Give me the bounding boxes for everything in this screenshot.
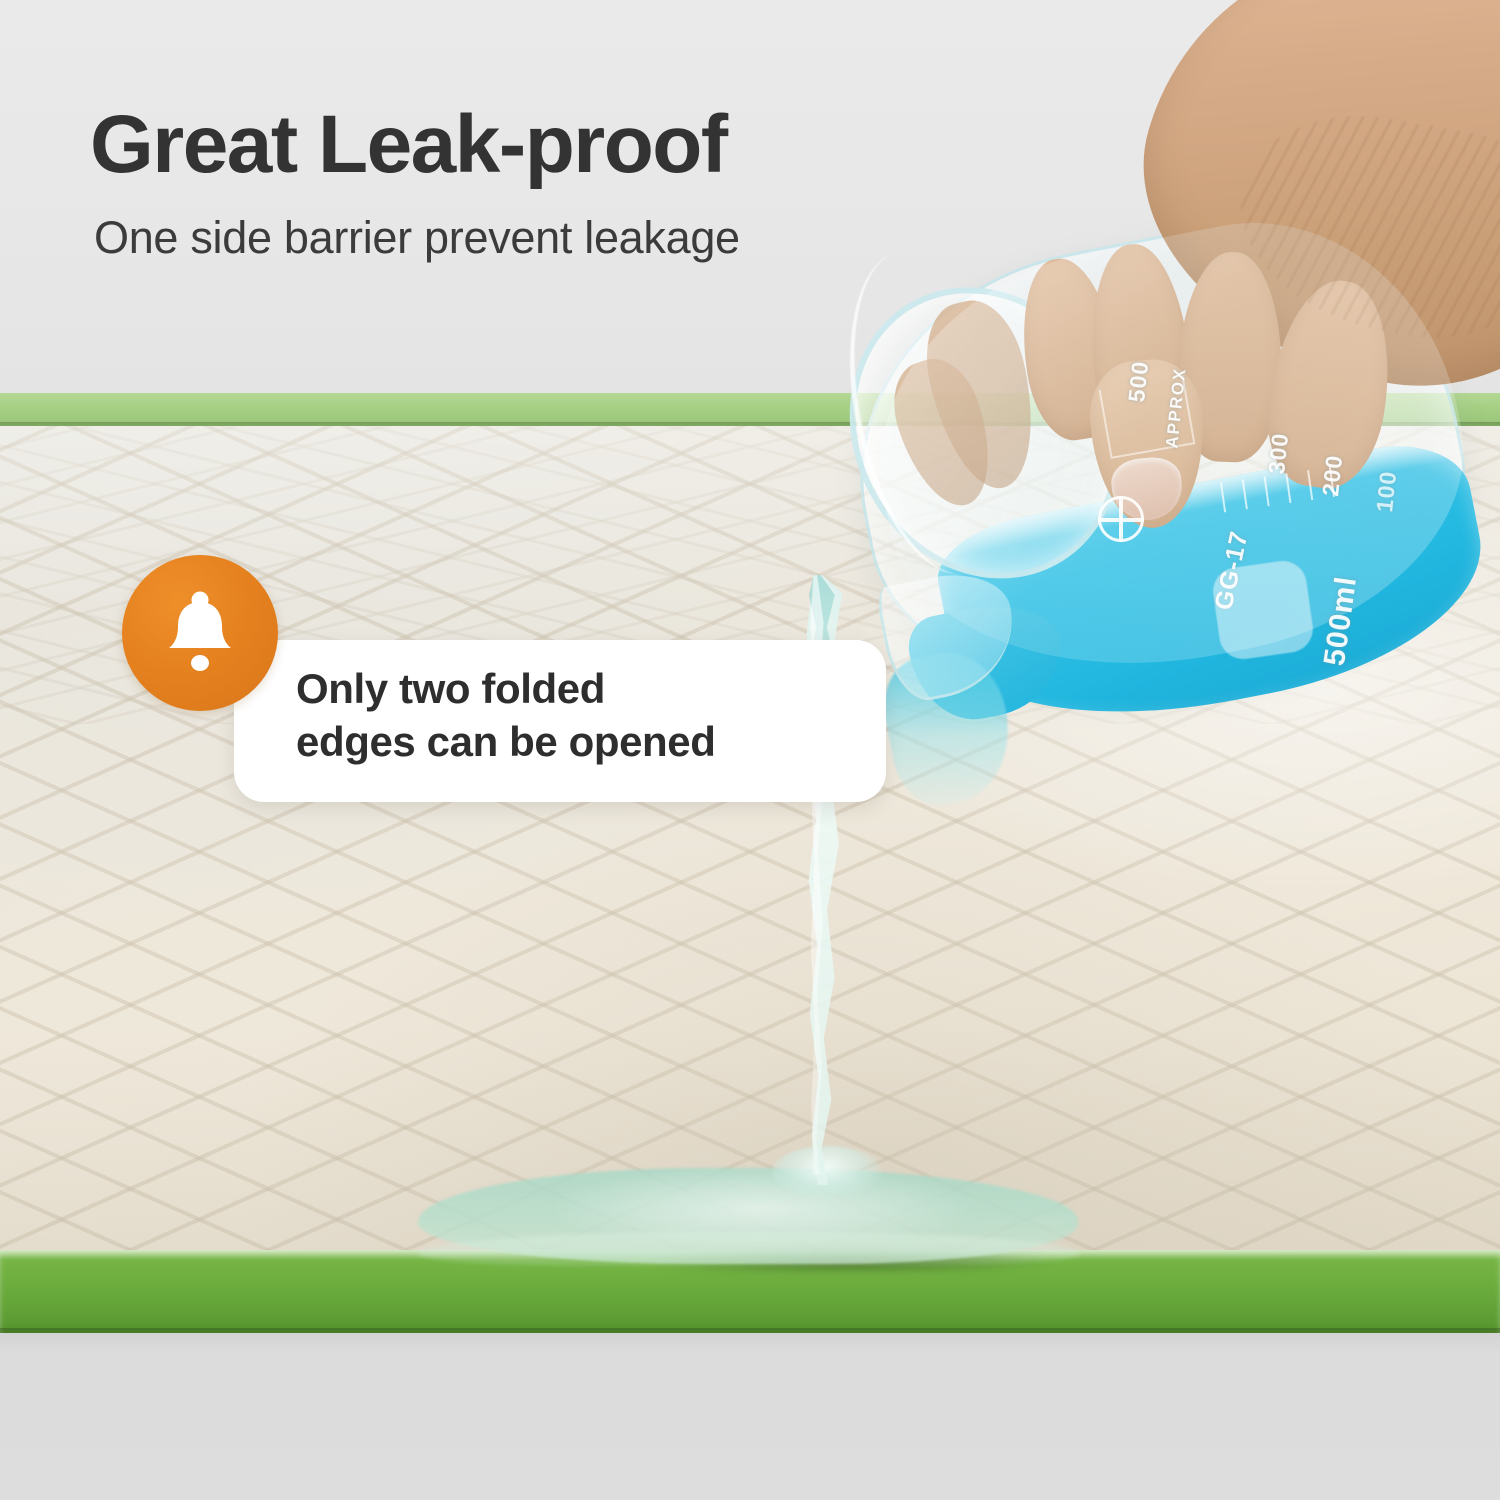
callout-line-2: edges can be opened: [296, 716, 876, 769]
background-lower: [0, 1330, 1500, 1500]
callout-text: Only two folded edges can be opened: [296, 663, 876, 769]
callout-line-1: Only two folded: [296, 663, 876, 716]
page-title: Great Leak-proof: [90, 104, 727, 186]
beaker-mark-100: 100: [1371, 470, 1402, 514]
puddle-front-edge: [418, 1232, 1080, 1266]
callout-badge: [122, 555, 278, 711]
beaker-mark-500: 500: [1123, 360, 1154, 404]
bell-icon: [122, 555, 278, 711]
barrier-edge-bottom-shadow: [0, 1328, 1500, 1333]
globe-icon: [1098, 496, 1144, 542]
page-subtitle: One side barrier prevent leakage: [94, 212, 740, 264]
beaker-label-patch: [1210, 558, 1316, 662]
product-feature-image: 500 APPROX 300 200 100 GG-17 500ml Great…: [0, 0, 1500, 1500]
beaker-mark-300: 300: [1263, 432, 1294, 476]
feature-callout: Only two folded edges can be opened: [122, 555, 782, 805]
